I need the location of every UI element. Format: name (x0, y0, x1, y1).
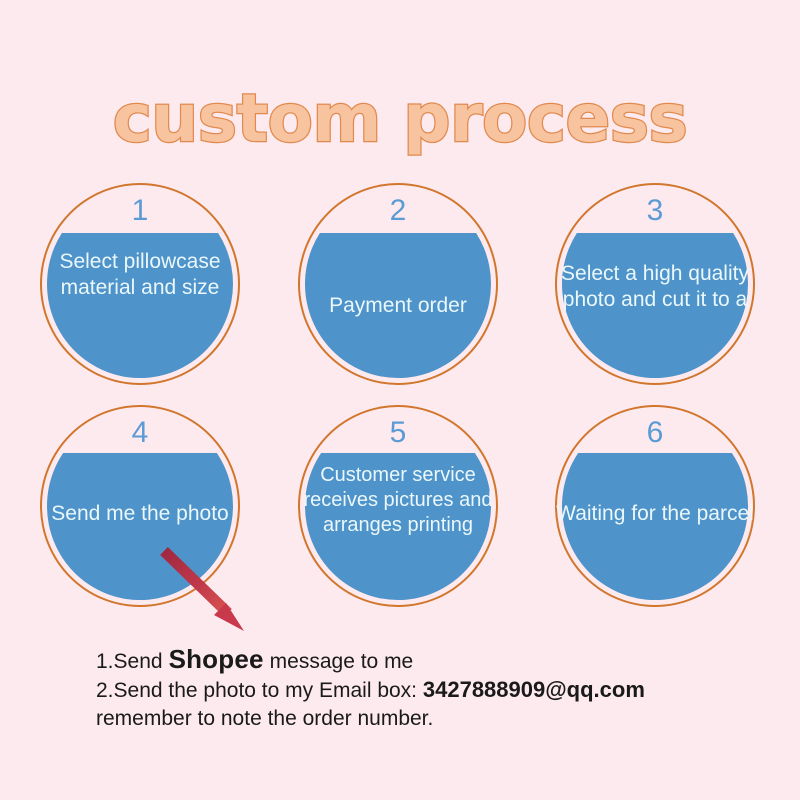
process-steps-grid: 1 Select pillowcase material and size 2 … (40, 183, 760, 635)
process-step-4[interactable]: 4 Send me the photo (40, 405, 240, 607)
instruction-2-prefix: 2.Send the photo to my Email box: (96, 679, 417, 702)
instruction-1-suffix: message to me (270, 650, 414, 673)
step-label: Send me the photo (36, 501, 244, 527)
process-step-1[interactable]: 1 Select pillowcase material and size (40, 183, 240, 385)
instruction-1-prefix: 1.Send (96, 650, 163, 673)
instruction-line-1: 1.SendShopeemessage to me (96, 645, 776, 676)
email-address[interactable]: 3427888909@qq.com (423, 677, 645, 702)
step-label: Customer service receives pictures and a… (294, 463, 502, 538)
step-number: 6 (555, 418, 755, 448)
step-number: 3 (555, 196, 755, 226)
step-label: Select a high quality photo and cut it t… (551, 261, 759, 313)
shopee-brand-label: Shopee (163, 644, 270, 674)
bottom-instructions: 1.SendShopeemessage to me 2.Send the pho… (96, 645, 776, 733)
page-title: custom process (113, 86, 688, 152)
process-row-2: 4 Send me the photo 5 Customer service r… (40, 405, 760, 635)
process-step-5[interactable]: 5 Customer service receives pictures and… (298, 405, 498, 607)
process-step-3[interactable]: 3 Select a high quality photo and cut it… (555, 183, 755, 385)
page-title-area: custom process (0, 86, 800, 172)
step-number: 5 (298, 418, 498, 448)
step-label: Waiting for the parcel (551, 501, 759, 527)
step-number: 2 (298, 196, 498, 226)
step-number: 4 (40, 418, 240, 448)
instruction-line-2: 2.Send the photo to my Email box: 342788… (96, 676, 776, 705)
process-step-2[interactable]: 2 Payment order (298, 183, 498, 385)
process-step-6[interactable]: 6 Waiting for the parcel (555, 405, 755, 607)
step-number: 1 (40, 196, 240, 226)
process-row-1: 1 Select pillowcase material and size 2 … (40, 183, 760, 405)
step-label: Select pillowcase material and size (36, 249, 244, 301)
instruction-line-3: remember to note the order number. (96, 705, 776, 733)
step-label: Payment order (294, 293, 502, 319)
